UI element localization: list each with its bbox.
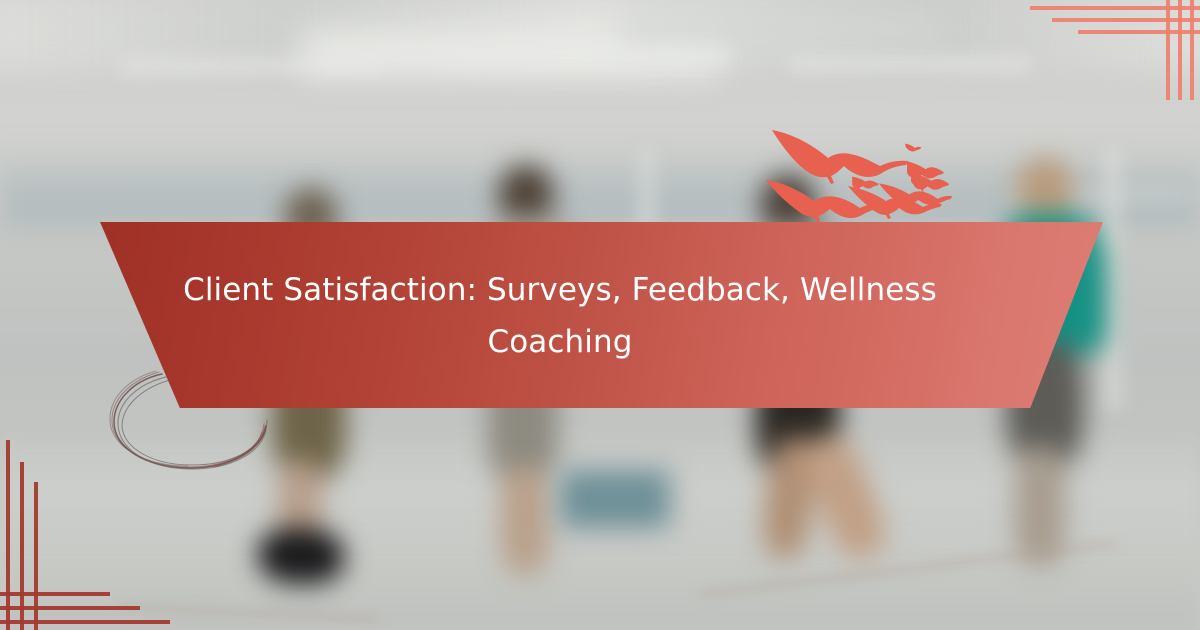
corner-tr-hline-2	[1052, 18, 1200, 22]
person-4-head	[1016, 158, 1074, 222]
bag-shape	[560, 470, 670, 528]
corner-bl-hline-1	[0, 620, 170, 624]
corner-bl-hline-3	[0, 592, 110, 596]
corner-bl-vline-3	[34, 482, 38, 630]
corner-decoration-bottom-left	[0, 440, 170, 630]
person-4-torso-teal	[994, 214, 1106, 356]
corner-tr-vline-3	[1166, 0, 1170, 100]
header-banner-canvas: Client Satisfaction: Surveys, Feedback, …	[0, 0, 1200, 630]
window-frame-1	[120, 60, 380, 72]
ceiling-panel-right	[620, 10, 940, 50]
person-4-lower-leg	[1014, 446, 1066, 566]
corner-decoration-top-right	[1030, 0, 1200, 100]
window-frame-3	[790, 58, 1030, 70]
person-3	[740, 170, 910, 610]
window-mullion-1	[640, 150, 654, 260]
flying-birds-flock-icon	[762, 104, 1010, 226]
corner-bl-hline-2	[0, 606, 140, 610]
background-photo	[0, 0, 1200, 630]
corner-bl-vline-1	[6, 440, 10, 630]
window-frame-2	[430, 48, 730, 62]
corner-tr-hline-1	[1030, 6, 1200, 10]
corner-bl-vline-2	[20, 462, 24, 630]
person-1-shoe	[258, 528, 344, 584]
corner-tr-vline-1	[1190, 0, 1194, 100]
floor-object-bag	[560, 470, 680, 550]
person-2-lower-leg	[500, 465, 550, 575]
corner-tr-hline-3	[1078, 30, 1200, 34]
person-3-torso	[744, 224, 862, 384]
corner-tr-vline-2	[1178, 0, 1182, 100]
person-2-torso	[476, 215, 588, 375]
